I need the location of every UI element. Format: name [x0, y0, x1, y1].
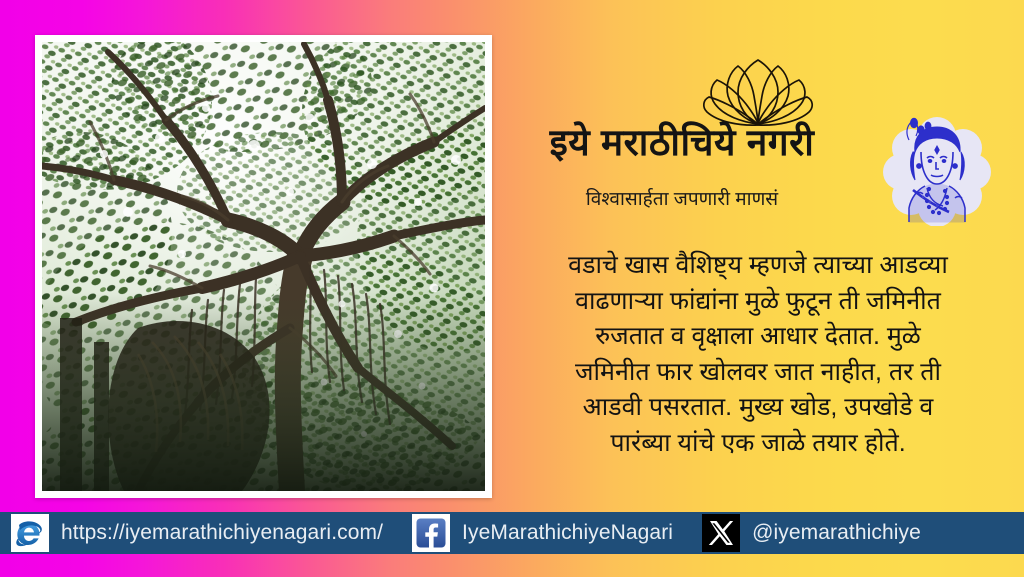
website-url[interactable]: https://iyemarathichiyenagari.com/ — [61, 521, 383, 545]
article-line: जमिनीत फार खोलवर जात नाहीत, तर ती — [498, 355, 1018, 391]
facebook-icon — [412, 514, 450, 552]
brand-panel: इये मराठीचिये नगरी विश्वासार्हता जपणारी … — [492, 0, 1024, 512]
article-line: वडाचे खास वैशिष्ट्य म्हणजे त्याच्या आडव्… — [498, 248, 1018, 284]
article-line: पारंब्या यांचे एक जाळे तयार होते. — [498, 426, 1018, 462]
krishna-avatar-icon — [883, 114, 991, 226]
footer-twitter-item[interactable]: @iyemarathichiye — [691, 512, 921, 554]
twitter-handle[interactable]: @iyemarathichiye — [752, 521, 921, 545]
photo-frame — [35, 35, 492, 498]
footer-bar: https://iyemarathichiyenagari.com/ IyeMa… — [0, 512, 1024, 554]
x-twitter-icon — [702, 514, 740, 552]
facebook-handle[interactable]: IyeMarathichiyeNagari — [462, 521, 673, 545]
banyan-tree-photo — [42, 42, 485, 491]
article-body: वडाचे खास वैशिष्ट्य म्हणजे त्याच्या आडव्… — [498, 248, 1018, 461]
footer-website-item[interactable]: https://iyemarathichiyenagari.com/ — [0, 512, 383, 554]
internet-explorer-icon — [11, 514, 49, 552]
page-title: इये मराठीचिये नगरी — [492, 122, 872, 165]
brand-tagline: विश्वासार्हता जपणारी माणसं — [492, 185, 872, 211]
lotus-icon — [702, 56, 814, 128]
article-line: आडवी पसरतात. मुख्य खोड, उपखोडे व — [498, 390, 1018, 426]
article-line: वाढणाऱ्या फांद्यांना मुळे फुटून ती जमिनी… — [498, 284, 1018, 320]
article-line: रुजतात व वृक्षाला आधार देतात. मुळे — [498, 319, 1018, 355]
footer-facebook-item[interactable]: IyeMarathichiyeNagari — [401, 512, 673, 554]
